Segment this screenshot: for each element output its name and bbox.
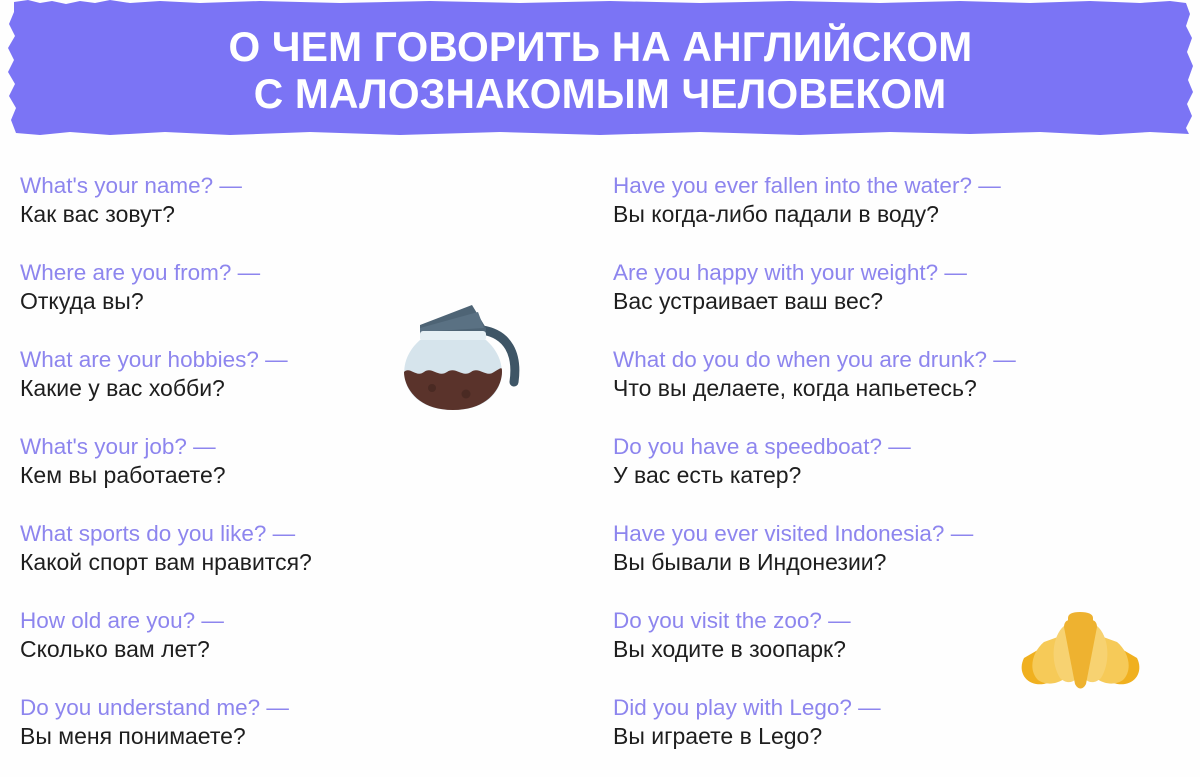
phrase-english: Do you understand me? — (20, 697, 580, 720)
phrase-item: Have you ever fallen into the water? — В… (613, 175, 1188, 226)
phrase-item: What are your hobbies? — Какие у вас хоб… (20, 349, 580, 400)
phrase-russian: Кем вы работаете? (20, 464, 580, 487)
phrase-list-container: What's your name? — Как вас зовут? Where… (0, 140, 1200, 777)
phrase-russian: Что вы делаете, когда напьетесь? (613, 377, 1188, 400)
phrase-item: What sports do you like? — Какой спорт в… (20, 523, 580, 574)
phrase-russian: Вы играете в Lego? (613, 725, 1188, 748)
phrase-english: What are your hobbies? — (20, 349, 580, 372)
banner-shape (0, 0, 1200, 140)
phrase-english: Do you have a speedboat? — (613, 436, 1188, 459)
phrase-item: What's your job? — Кем вы работаете? (20, 436, 580, 487)
phrase-russian: Вас устраивает ваш вес? (613, 290, 1188, 313)
phrase-russian: Откуда вы? (20, 290, 580, 313)
phrase-item: Do you have a speedboat? — У вас есть ка… (613, 436, 1188, 487)
phrase-english: Where are you from? — (20, 262, 580, 285)
phrase-english: Have you ever visited Indonesia? — (613, 523, 1188, 546)
phrase-english: What's your job? — (20, 436, 580, 459)
phrase-item: Are you happy with your weight? — Вас ус… (613, 262, 1188, 313)
phrase-english: What sports do you like? — (20, 523, 580, 546)
phrase-russian: У вас есть катер? (613, 464, 1188, 487)
phrase-russian: Вы бывали в Индонезии? (613, 551, 1188, 574)
phrase-item: Do you visit the zoo? — Вы ходите в зооп… (613, 610, 1188, 661)
phrase-item: How old are you? — Сколько вам лет? (20, 610, 580, 661)
phrase-item: Do you understand me? — Вы меня понимает… (20, 697, 580, 748)
phrase-russian: Вы ходите в зоопарк? (613, 638, 1188, 661)
phrase-english: Are you happy with your weight? — (613, 262, 1188, 285)
phrase-english: What do you do when you are drunk? — (613, 349, 1188, 372)
phrase-english: Have you ever fallen into the water? — (613, 175, 1188, 198)
phrase-russian: Вы когда-либо падали в воду? (613, 203, 1188, 226)
phrase-item: Where are you from? — Откуда вы? (20, 262, 580, 313)
phrase-english: How old are you? — (20, 610, 580, 633)
phrase-item: What's your name? — Как вас зовут? (20, 175, 580, 226)
phrase-english: What's your name? — (20, 175, 580, 198)
phrase-item: Did you play with Lego? — Вы играете в L… (613, 697, 1188, 748)
header-banner: О ЧЕМ ГОВОРИТЬ НА АНГЛИЙСКОМ С МАЛОЗНАКО… (0, 0, 1200, 140)
phrase-english: Did you play with Lego? — (613, 697, 1188, 720)
phrase-russian: Какие у вас хобби? (20, 377, 580, 400)
phrase-russian: Какой спорт вам нравится? (20, 551, 580, 574)
phrase-russian: Сколько вам лет? (20, 638, 580, 661)
phrase-item: Have you ever visited Indonesia? — Вы бы… (613, 523, 1188, 574)
phrase-item: What do you do when you are drunk? — Что… (613, 349, 1188, 400)
phrase-russian: Как вас зовут? (20, 203, 580, 226)
phrase-english: Do you visit the zoo? — (613, 610, 1188, 633)
phrase-russian: Вы меня понимаете? (20, 725, 580, 748)
